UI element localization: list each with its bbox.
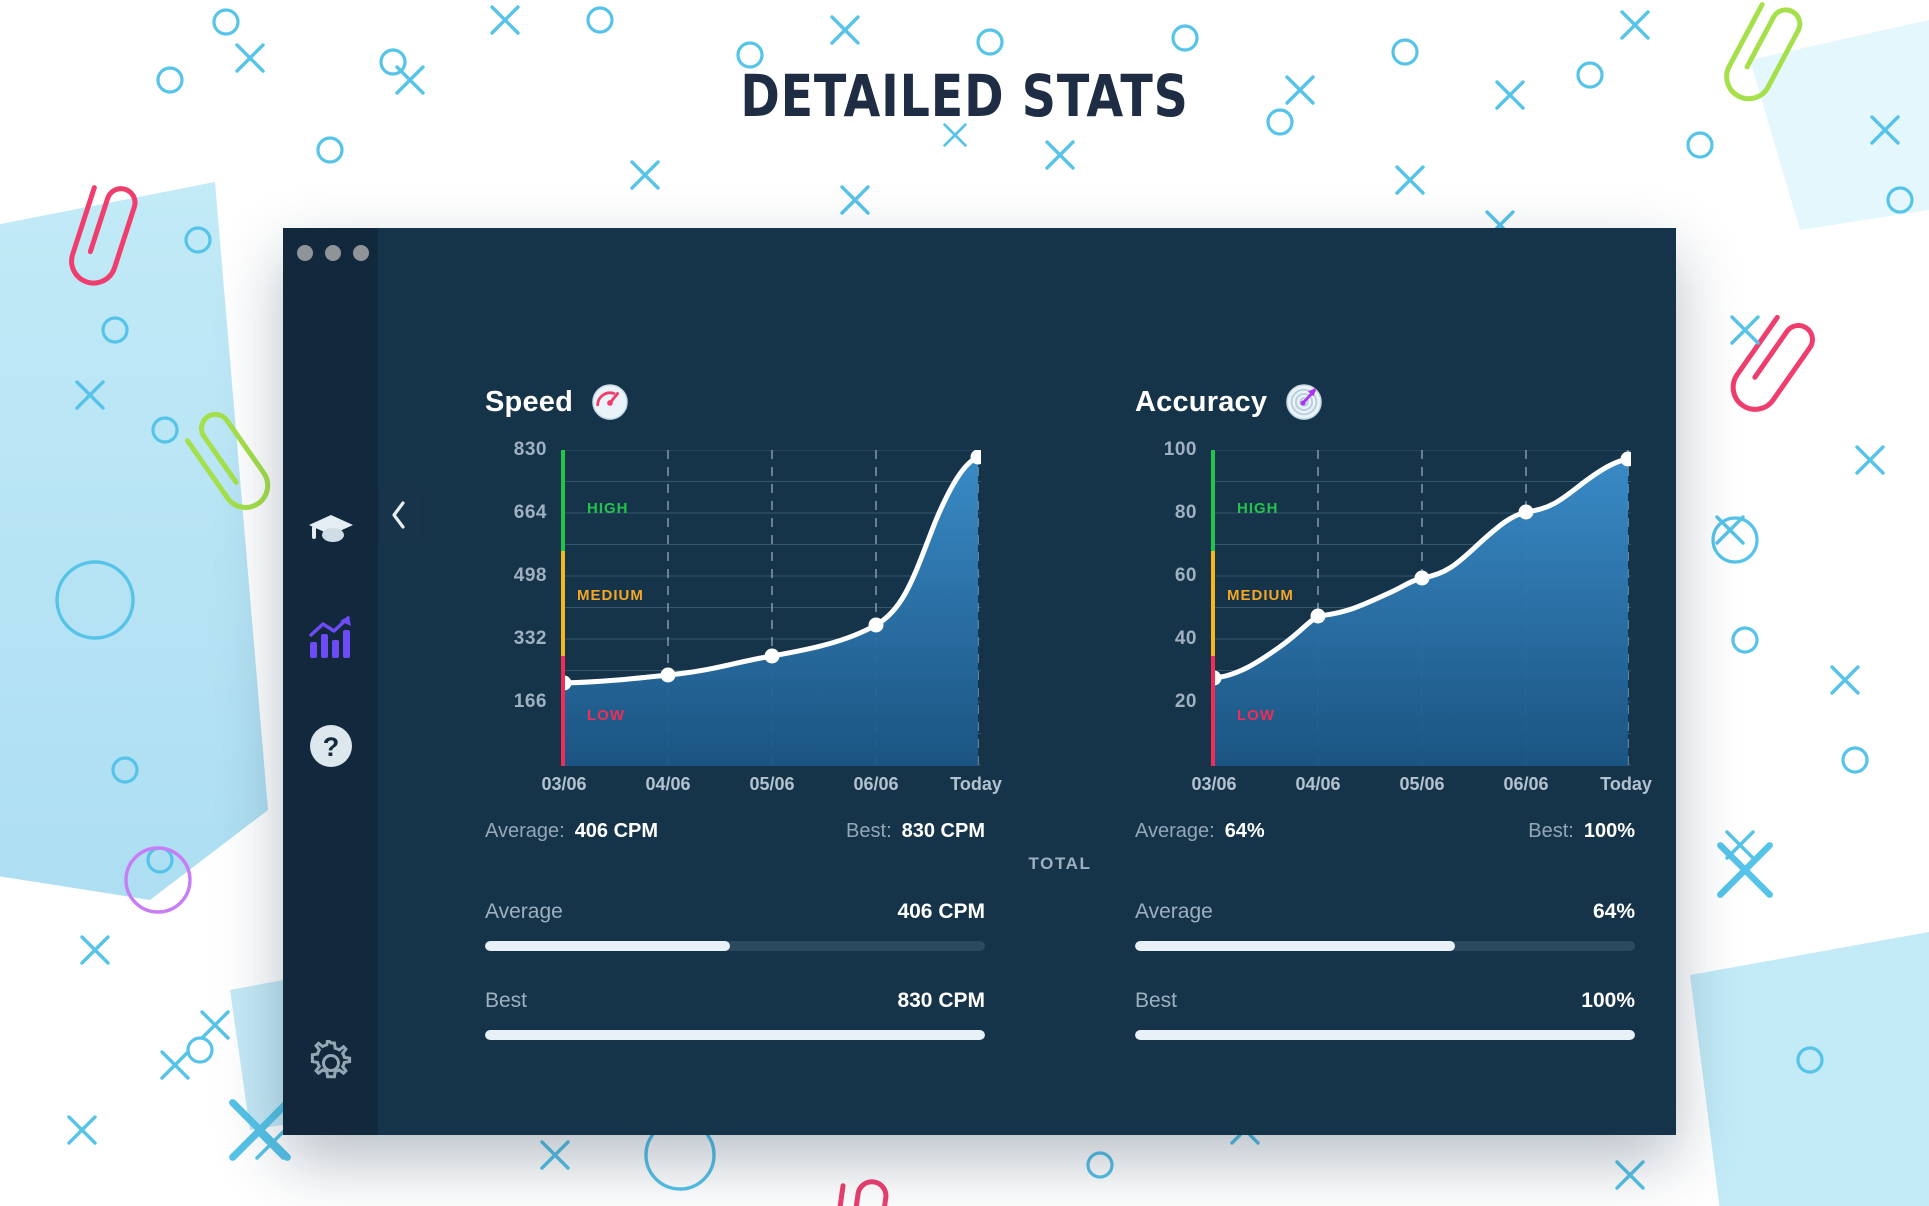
accuracy-x-axis-labels: 03/06 04/06 05/06 06/06 Today: [1211, 774, 1631, 804]
bar-value: 100%: [1581, 989, 1635, 1013]
bar-label: Best: [1135, 989, 1177, 1013]
y-tick: 40: [1175, 628, 1197, 650]
summary-label: Average:: [485, 820, 565, 843]
sidebar-item-stats[interactable]: [305, 612, 357, 664]
bar-value: 406 CPM: [897, 900, 985, 924]
minimize-button[interactable]: [325, 245, 341, 261]
bar-chart-growth-icon: [308, 616, 354, 660]
x-tick: 04/06: [1295, 774, 1340, 795]
x-tick: 03/06: [1191, 774, 1236, 795]
sidebar-item-help[interactable]: ?: [305, 720, 357, 772]
progress-track: [485, 1030, 985, 1040]
gear-icon: [308, 1040, 354, 1086]
y-tick: 166: [514, 691, 547, 713]
sidebar-item-learn[interactable]: [305, 504, 357, 556]
speed-chart: 830 664 498 332 166: [485, 450, 985, 790]
speed-average-summary: Average: 406 CPM: [485, 820, 658, 843]
summary-value: 64%: [1225, 820, 1265, 843]
summary-value: 406 CPM: [575, 820, 658, 843]
speed-bars: Average 406 CPM Best 830 CPM: [485, 900, 985, 1078]
speed-summary: Average: 406 CPM Best: 830 CPM: [485, 820, 985, 843]
progress-track: [485, 941, 985, 951]
speed-best-summary: Best: 830 CPM: [846, 820, 985, 843]
speed-y-axis-labels: 830 664 498 332 166: [485, 450, 547, 766]
x-tick: 04/06: [645, 774, 690, 795]
app-window: ? TOTAL Speed: [283, 228, 1676, 1135]
graduation-cap-icon: [308, 513, 354, 547]
accuracy-chart: 100 80 60 40 20: [1135, 450, 1635, 790]
progress-fill: [485, 1030, 985, 1040]
bar-label: Average: [1135, 900, 1213, 924]
accuracy-title: Accuracy: [1135, 386, 1267, 419]
zone-label-low: LOW: [587, 707, 625, 724]
bar-label: Average: [485, 900, 563, 924]
speedometer-icon: [591, 383, 629, 421]
x-tick: 05/06: [749, 774, 794, 795]
progress-fill: [1135, 941, 1455, 951]
window-traffic-lights: [297, 245, 369, 261]
data-point: [1519, 505, 1534, 520]
accuracy-best-summary: Best: 100%: [1528, 820, 1635, 843]
y-tick: 498: [514, 565, 547, 587]
y-tick: 664: [514, 502, 547, 524]
accuracy-y-axis-labels: 100 80 60 40 20: [1135, 450, 1197, 766]
accuracy-chart-header: Accuracy: [1135, 383, 1323, 421]
x-tick: Today: [950, 774, 1002, 795]
accuracy-average-bar-row: Average 64%: [1135, 900, 1635, 951]
data-point: [1311, 609, 1326, 624]
zone-label-medium: MEDIUM: [1227, 587, 1294, 604]
collapse-sidebar-button[interactable]: [378, 486, 420, 544]
speed-chart-header: Speed: [485, 383, 629, 421]
x-tick: 06/06: [853, 774, 898, 795]
question-mark-circle-icon: ?: [309, 724, 353, 768]
summary-value: 830 CPM: [902, 820, 985, 843]
data-point: [869, 618, 884, 633]
speed-plot: HIGH MEDIUM LOW: [561, 450, 981, 766]
data-point: [1415, 571, 1430, 586]
progress-track: [1135, 941, 1635, 951]
bar-label: Best: [485, 989, 527, 1013]
data-point: [765, 649, 780, 664]
summary-label: Best:: [1528, 820, 1574, 843]
accuracy-best-bar-row: Best 100%: [1135, 989, 1635, 1040]
speed-title: Speed: [485, 386, 573, 419]
data-point: [661, 668, 676, 683]
speed-x-axis-labels: 03/06 04/06 05/06 06/06 Today: [561, 774, 981, 804]
close-button[interactable]: [297, 245, 313, 261]
progress-fill: [485, 941, 730, 951]
x-tick: Today: [1600, 774, 1652, 795]
accuracy-summary: Average: 64% Best: 100%: [1135, 820, 1635, 843]
y-tick: 60: [1175, 565, 1197, 587]
y-tick: 20: [1175, 691, 1197, 713]
y-tick: 100: [1164, 439, 1197, 461]
chevron-left-icon: [390, 500, 408, 530]
bar-value: 830 CPM: [897, 989, 985, 1013]
x-tick: 05/06: [1399, 774, 1444, 795]
summary-value: 100%: [1584, 820, 1635, 843]
total-label: TOTAL: [485, 854, 1635, 874]
x-tick: 06/06: [1503, 774, 1548, 795]
x-tick: 03/06: [541, 774, 586, 795]
speed-average-bar-row: Average 406 CPM: [485, 900, 985, 951]
speed-best-bar-row: Best 830 CPM: [485, 989, 985, 1040]
zone-label-low: LOW: [1237, 707, 1275, 724]
bar-value: 64%: [1593, 900, 1635, 924]
page-title: DETAILED STATS: [174, 62, 1756, 130]
sidebar: ?: [283, 228, 378, 1135]
accuracy-bars: Average 64% Best 100%: [1135, 900, 1635, 1078]
progress-track: [1135, 1030, 1635, 1040]
zone-label-medium: MEDIUM: [577, 587, 644, 604]
y-tick: 830: [514, 439, 547, 461]
progress-fill: [1135, 1030, 1635, 1040]
content-area: TOTAL Speed 830 664 498 332 166: [378, 228, 1676, 1135]
accuracy-average-summary: Average: 64%: [1135, 820, 1265, 843]
summary-label: Best:: [846, 820, 892, 843]
settings-button[interactable]: [305, 1037, 357, 1089]
target-radar-icon: [1285, 383, 1323, 421]
y-tick: 332: [514, 628, 547, 650]
zone-label-high: HIGH: [587, 500, 629, 517]
svg-text:?: ?: [322, 732, 339, 762]
accuracy-plot: HIGH MEDIUM LOW: [1211, 450, 1631, 766]
zoom-button[interactable]: [353, 245, 369, 261]
summary-label: Average:: [1135, 820, 1215, 843]
zone-label-high: HIGH: [1237, 500, 1279, 517]
y-tick: 80: [1175, 502, 1197, 524]
